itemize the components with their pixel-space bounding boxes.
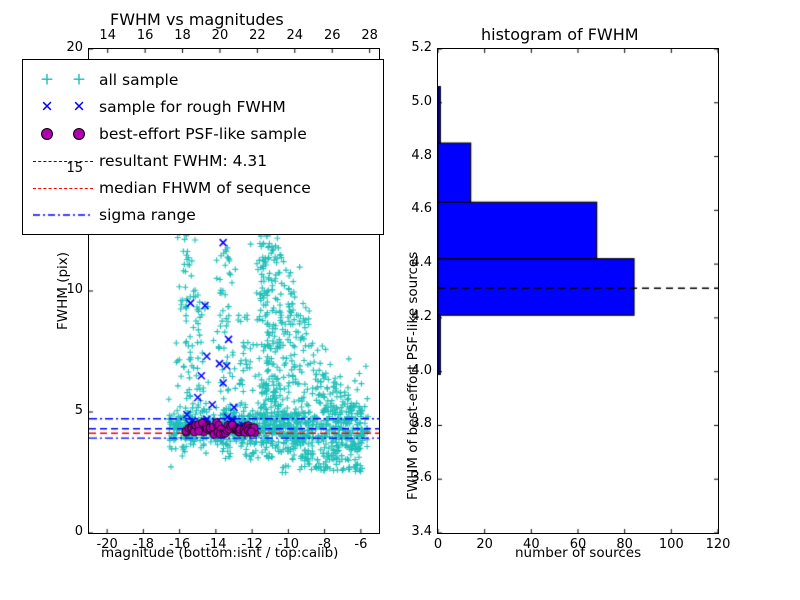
- tick-label: 16: [137, 28, 154, 43]
- left-chart-title: FWHM vs magnitudes: [110, 10, 284, 29]
- tick-label: 20: [476, 537, 493, 552]
- legend-label: best-effort PSF-like sample: [95, 125, 307, 143]
- tick-label: -8: [318, 537, 331, 552]
- legend-marker-plus-icon: ++: [31, 70, 95, 90]
- legend-label: sigma range: [95, 206, 196, 224]
- tick-label: 3.6: [411, 470, 432, 485]
- tick-label: 26: [324, 28, 341, 43]
- legend-marker-x-icon: ✕✕: [31, 97, 95, 117]
- tick-label: 120: [706, 537, 731, 552]
- tick-label: 4.6: [411, 201, 432, 216]
- tick-label: 5.2: [411, 40, 432, 55]
- tick-label: 0: [75, 524, 83, 539]
- tick-label: 40: [523, 537, 540, 552]
- legend-item-rough-fwhm: ✕✕ sample for rough FWHM: [31, 93, 375, 120]
- tick-label: 100: [659, 537, 684, 552]
- tick-label: 5.0: [411, 94, 432, 109]
- right-plot-canvas: [438, 49, 718, 533]
- legend-label: resultant FWHM: 4.31: [95, 152, 267, 170]
- tick-label: 10: [66, 282, 83, 297]
- tick-label: 20: [66, 40, 83, 55]
- legend-marker-dashdot-icon: [31, 205, 95, 225]
- tick-label: -6: [354, 537, 367, 552]
- legend-item-psf-like: best-effort PSF-like sample: [31, 120, 375, 147]
- tick-label: 4.8: [411, 148, 432, 163]
- tick-label: 5: [75, 403, 83, 418]
- legend-label: all sample: [95, 71, 178, 89]
- figure-root: FWHM vs magnitudes magnitude (bottom:isn…: [0, 0, 800, 600]
- tick-label: -18: [133, 537, 154, 552]
- tick-label: 15: [66, 161, 83, 176]
- right-chart-title: histogram of FWHM: [481, 25, 639, 44]
- legend-item-median-fwhm: median FHWM of sequence: [31, 174, 375, 201]
- tick-label: 24: [287, 28, 304, 43]
- tick-label: 60: [570, 537, 587, 552]
- tick-label: 4.4: [411, 255, 432, 270]
- tick-label: -16: [169, 537, 190, 552]
- tick-label: 22: [249, 28, 266, 43]
- legend-marker-dot-icon: [31, 124, 95, 144]
- tick-label: 80: [616, 537, 633, 552]
- tick-label: 3.8: [411, 416, 432, 431]
- legend-item-sigma-range: sigma range: [31, 201, 375, 228]
- legend-item-all-sample: ++ all sample: [31, 66, 375, 93]
- legend-marker-red-dashed-icon: [31, 178, 95, 198]
- tick-label: -12: [242, 537, 263, 552]
- tick-label: 18: [174, 28, 191, 43]
- legend-marker-blue-dashed-icon: [31, 151, 95, 171]
- tick-label: 28: [361, 28, 378, 43]
- tick-label: -14: [205, 537, 226, 552]
- right-histogram-plot: [437, 48, 719, 534]
- legend-label: median FHWM of sequence: [95, 179, 311, 197]
- tick-label: 3.4: [411, 524, 432, 539]
- tick-label: 4.0: [411, 363, 432, 378]
- legend-label: sample for rough FWHM: [95, 98, 286, 116]
- legend: ++ all sample ✕✕ sample for rough FWHM b…: [22, 59, 384, 235]
- tick-label: 14: [99, 28, 116, 43]
- tick-label: -10: [278, 537, 299, 552]
- tick-label: 20: [212, 28, 229, 43]
- tick-label: 0: [434, 537, 442, 552]
- tick-label: 4.2: [411, 309, 432, 324]
- tick-label: -20: [97, 537, 118, 552]
